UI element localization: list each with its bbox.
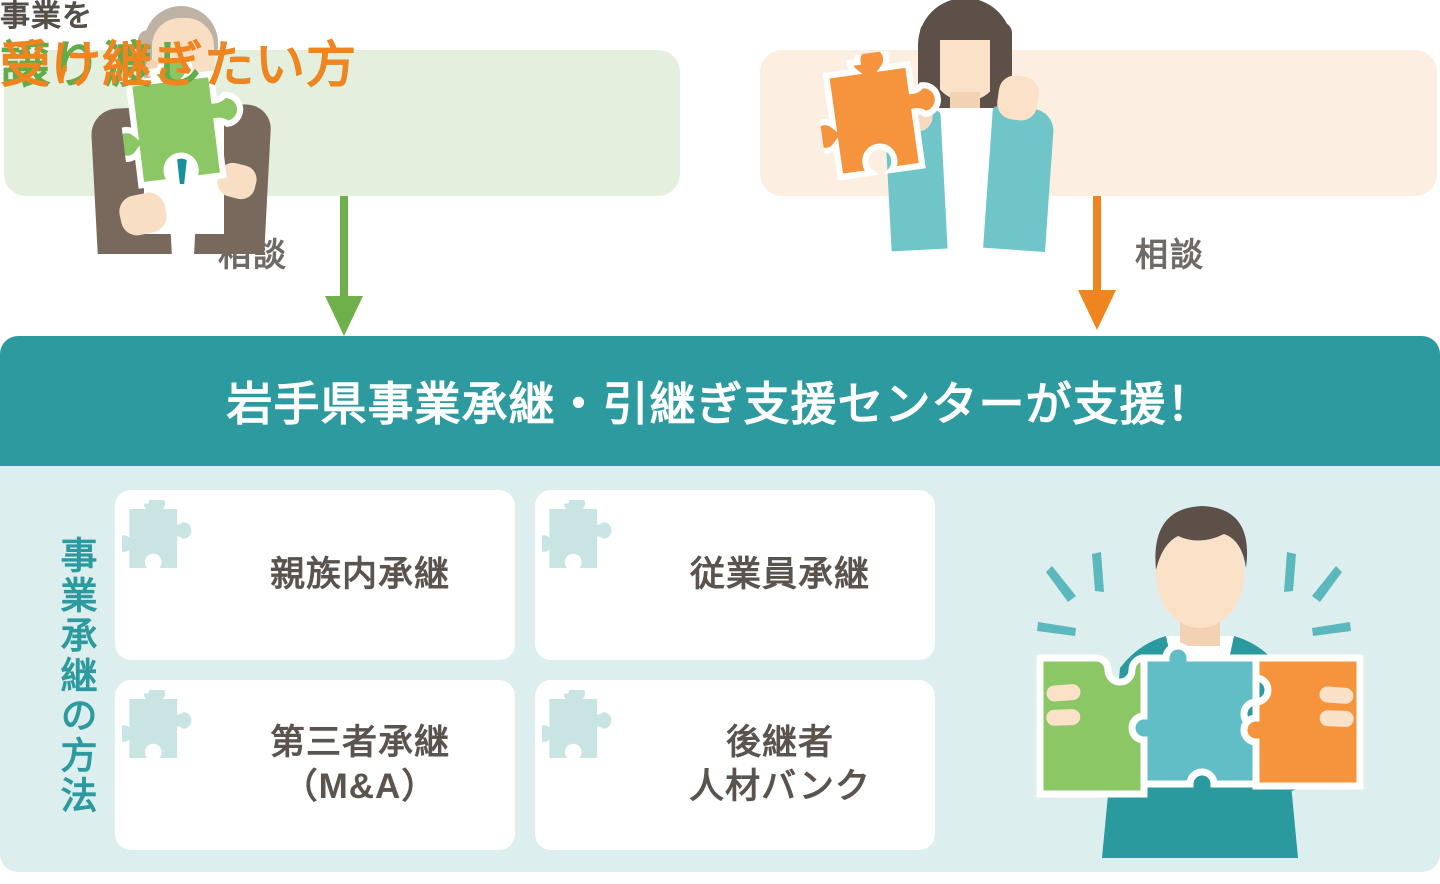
person-holding-three-puzzle-pieces-icon [1000,500,1400,872]
orange-puzzle-piece-icon [812,44,953,190]
arrow-label-right: 相談 [1135,228,1205,276]
card-successor-main: 受け継ぎたい方 [0,37,357,95]
puzzle-piece-icon [122,690,194,764]
support-center-banner: 岩手県事業承継・引継ぎ支援センターが支援！ [0,336,1440,466]
card-successor-sub: 事業を [0,0,357,33]
banner-title: 岩手県事業承継・引継ぎ支援センターが支援！ [0,336,1440,466]
arrow-head [325,296,363,336]
card-successor-text: 事業を 受け継ぎたい方 [0,0,357,95]
puzzle-piece-icon [542,500,614,574]
infographic-root: 岩手県事業承継・引継ぎ支援センターが支援！ 事業を 譲り渡したい方 [0,0,1440,884]
arrow-shaft [340,196,348,300]
arrow-head [1078,290,1116,330]
arrow-shaft [1093,196,1101,294]
puzzle-piece-icon [122,500,194,574]
methods-vertical-label: 事業承継の方法 [36,536,96,816]
puzzle-piece-icon [542,690,614,764]
